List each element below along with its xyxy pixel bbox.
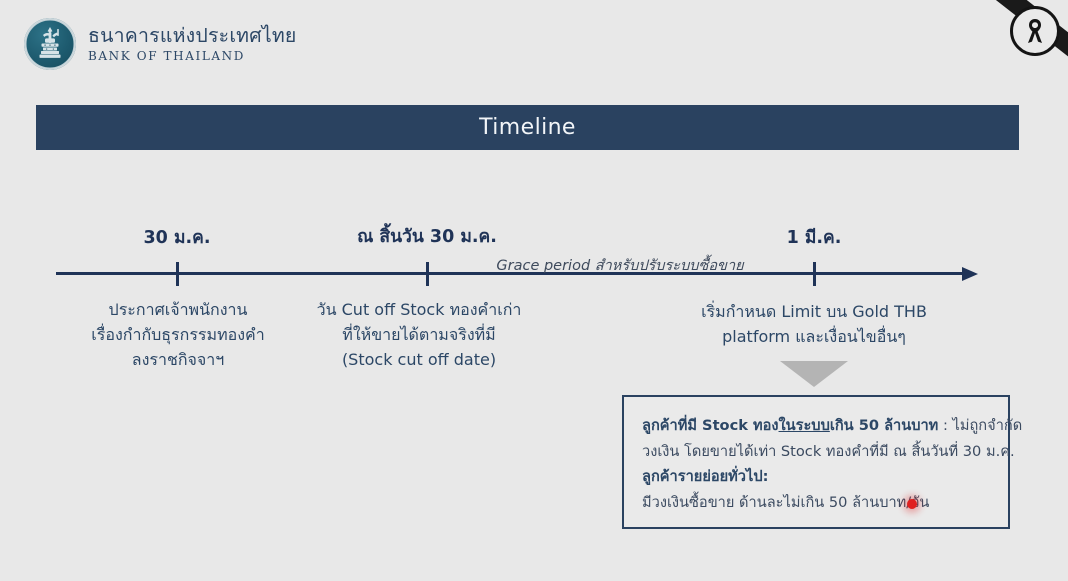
- info-line-1-bold-a: ลูกค้าที่มี Stock ทอง: [642, 417, 779, 434]
- timeline-desc-1-line-3: ลงราชกิจจาฯ: [91, 348, 264, 373]
- info-line-1-rest: : ไม่ถูกจำกัด: [938, 417, 1022, 434]
- timeline-desc-2-line-1: วัน Cut off Stock ทองคำเก่า: [317, 298, 522, 323]
- timeline-tick-1: [176, 262, 179, 286]
- timeline-date-2: ณ สิ้นวัน 30 ม.ค.: [357, 222, 497, 250]
- info-line-4: มีวงเงินซื้อขาย ด้านละไม่เกิน 50 ล้านบาท…: [642, 490, 992, 516]
- slide-canvas: ธนาคารแห่งประเทศไทย BANK OF THAILAND Tim…: [0, 0, 1068, 581]
- info-line-2: วงเงิน โดยขายได้เท่า Stock ทองคำที่มี ณ …: [642, 439, 992, 465]
- logo-text-block: ธนาคารแห่งประเทศไทย BANK OF THAILAND: [88, 25, 297, 63]
- grace-period-label: Grace period สำหรับปรับระบบซื้อขาย: [496, 254, 743, 277]
- timeline-desc-1: ประกาศเจ้าพนักงาน เรื่องกำกับธุรกรรมทองค…: [91, 298, 264, 372]
- timeline-desc-3-line-1: เริ่มกำหนด Limit บน Gold THB: [701, 300, 927, 325]
- timeline-desc-2-line-3: (Stock cut off date): [317, 348, 522, 373]
- timeline-desc-1-line-1: ประกาศเจ้าพนักงาน: [91, 298, 264, 323]
- slide-title-bar: Timeline: [36, 105, 1019, 150]
- bot-logo: ธนาคารแห่งประเทศไทย BANK OF THAILAND: [24, 18, 297, 70]
- info-line-1: ลูกค้าที่มี Stock ทองในระบบเกิน 50 ล้านบ…: [642, 413, 992, 439]
- bank-name-english: BANK OF THAILAND: [88, 49, 297, 63]
- mourning-corner: [968, 0, 1068, 72]
- timeline-desc-2-line-2: ที่ให้ขายได้ตามจริงที่มี: [317, 323, 522, 348]
- timeline-desc-3: เริ่มกำหนด Limit บน Gold THB platform แล…: [701, 300, 927, 350]
- bank-of-thailand-seal-icon: [24, 18, 76, 70]
- info-line-1-underline: ในระบบ: [779, 417, 830, 434]
- timeline-desc-2: วัน Cut off Stock ทองคำเก่า ที่ให้ขายได้…: [317, 298, 522, 372]
- timeline-date-3: 1 มี.ค.: [787, 223, 842, 251]
- callout-pointer-icon: [780, 361, 848, 387]
- bank-name-thai: ธนาคารแห่งประเทศไทย: [88, 25, 297, 47]
- timeline-date-1: 30 ม.ค.: [144, 223, 211, 251]
- click-indicator-dot: [907, 499, 917, 509]
- page-title: Timeline: [479, 115, 576, 140]
- info-callout-box: ลูกค้าที่มี Stock ทองในระบบเกิน 50 ล้านบ…: [622, 395, 1010, 529]
- info-line-3-bold: ลูกค้ารายย่อยทั่วไป:: [642, 468, 768, 485]
- timeline-tick-3: [813, 262, 816, 286]
- timeline-tick-2: [426, 262, 429, 286]
- timeline-desc-3-line-2: platform และเงื่อนไขอื่นๆ: [701, 325, 927, 350]
- timeline-desc-1-line-2: เรื่องกำกับธุรกรรมทองคำ: [91, 323, 264, 348]
- timeline-arrow-icon: [962, 267, 978, 281]
- info-line-1-bold-b: เกิน 50 ล้านบาท: [830, 417, 938, 434]
- info-line-3: ลูกค้ารายย่อยทั่วไป:: [642, 464, 992, 490]
- mourning-ribbon-icon: [1010, 6, 1060, 56]
